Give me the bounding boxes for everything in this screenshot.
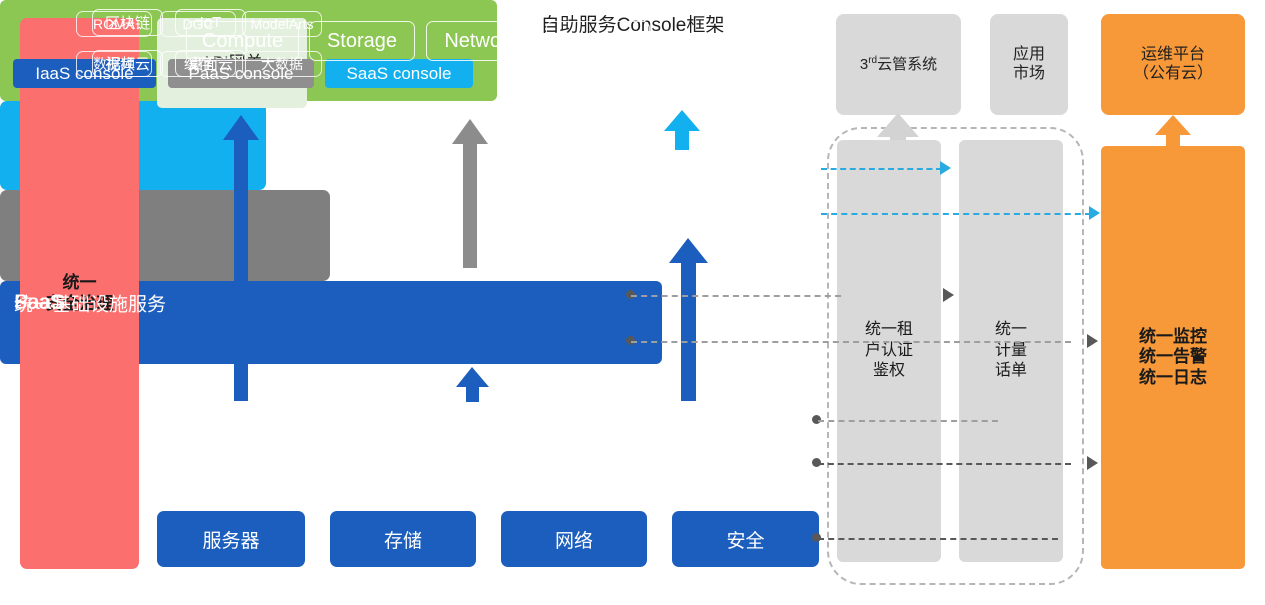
auth-line1: 统一租 — [865, 320, 913, 341]
dashed-paas-to-ops — [631, 341, 1071, 343]
dashed-paas-to-auth — [631, 295, 841, 297]
ops-monitoring-column: 统一监控 统一告警 统一日志 — [1101, 146, 1245, 569]
arrowhead-paas-to-ops — [1087, 334, 1098, 348]
arrowhead-auth-to-billing — [943, 288, 954, 302]
ops-platform-line1: 运维平台 — [1133, 46, 1213, 65]
auth-line2: 户认证 — [865, 341, 913, 362]
dashed-iaas-to-auth — [818, 420, 998, 422]
dashed-resources-to-shared — [818, 538, 1058, 540]
paas-chip-database[interactable]: 数据库 — [76, 51, 152, 77]
third-party-cloud-mgmt-box: 3rd云管系统 — [836, 14, 961, 115]
iaas-chip-cce[interactable]: CCE — [546, 21, 650, 61]
third-party-sup: rd — [868, 55, 877, 66]
billing-line1: 统一 — [995, 320, 1027, 341]
app-market-line2: 市场 — [1013, 65, 1045, 84]
arrowhead-iaas-to-ops — [1087, 456, 1098, 470]
app-market-line1: 应用 — [1013, 46, 1045, 65]
third-party-suffix: 云管系统 — [877, 56, 937, 73]
arrow-paas-to-console — [452, 119, 488, 268]
ops-column-line1: 统一监控 — [1139, 327, 1207, 347]
resource-box-server[interactable]: 服务器 — [157, 511, 305, 567]
arrow-iaas-to-saas — [669, 238, 708, 401]
unified-metering-billing-column: 统一 计量 话单 — [959, 140, 1063, 562]
third-party-prefix: 3 — [860, 56, 868, 73]
saas-console-chip[interactable]: SaaS console — [325, 59, 473, 88]
iaas-chip-storage[interactable]: Storage — [309, 21, 415, 61]
dashed-saas-to-ops — [821, 213, 1091, 215]
arrow-ops-column-to-ops-platform — [1155, 115, 1191, 148]
arrow-iaas-to-paas — [456, 367, 489, 402]
paas-chip-roma[interactable]: ROMA — [76, 11, 152, 37]
billing-line3: 话单 — [995, 361, 1027, 382]
dashed-saas-to-auth — [821, 168, 942, 170]
third-party-cloud-label: 3rd云管系统 — [860, 55, 937, 74]
ops-column-line2: 统一告警 — [1139, 347, 1207, 367]
app-market-box: 应用 市场 — [990, 14, 1068, 115]
resource-box-network[interactable]: 网络 — [501, 511, 647, 567]
unified-tenant-auth-column: 统一租 户认证 鉴权 — [837, 140, 941, 562]
resource-box-security[interactable]: 安全 — [672, 511, 819, 567]
iaas-chip-compute[interactable]: Compute — [186, 21, 299, 61]
billing-line2: 计量 — [995, 341, 1027, 362]
architecture-diagram: 统一 安全治理 API网关 自助服务Console框架 IaaS console… — [0, 0, 1265, 605]
resource-box-storage[interactable]: 存储 — [330, 511, 476, 567]
arrowhead-saas-to-ops — [1089, 206, 1100, 220]
auth-line3: 鉴权 — [865, 361, 913, 382]
iaas-chip-network[interactable]: Network — [426, 21, 536, 61]
arrow-saas-to-saas-console — [664, 110, 700, 150]
ops-platform-line2: （公有云） — [1133, 65, 1213, 84]
ops-column-line3: 统一日志 — [1139, 368, 1207, 388]
dashed-iaas-to-ops — [818, 463, 1071, 465]
iaas-layer-label: 统一基础设施服务 — [14, 289, 166, 316]
ops-platform-box: 运维平台 （公有云） — [1101, 14, 1245, 115]
arrowhead-saas-to-auth — [940, 161, 951, 175]
